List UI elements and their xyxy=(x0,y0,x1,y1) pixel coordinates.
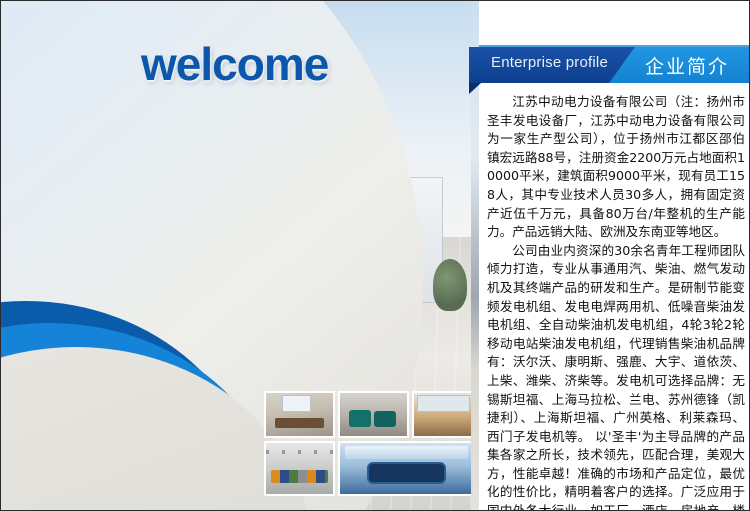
profile-body-copy: 江苏中动电力设备有限公司（注：扬州市圣丰发电设备厂，江苏中动电力设备有限公司为一… xyxy=(487,93,745,493)
factory-floor-photo: 生产车间 xyxy=(264,441,335,496)
banner-english-label: Enterprise profile xyxy=(491,54,608,71)
profile-paragraph-1: 江苏中动电力设备有限公司（注：扬州市圣丰发电设备厂，江苏中动电力设备有限公司为一… xyxy=(487,93,745,242)
tree-right xyxy=(433,259,467,311)
banner-chinese-label: 企业简介 xyxy=(645,52,729,79)
company-profile-page: 中动电力 江苏中动电力设备有限公司 Jiangsu Zhongdong Powe… xyxy=(0,0,750,511)
photo-collage: 办公室会议 发电机组 展厅 生产车间 会议室 xyxy=(264,391,469,499)
conference-room-photo: 会议室 xyxy=(338,441,475,496)
enterprise-profile-banner: Enterprise profile 企业简介 xyxy=(469,47,750,83)
showroom-photo: 展厅 xyxy=(412,391,475,438)
profile-paragraph-2: 公司由业内资深的30余名青年工程师团队倾力打造，专业从事通用汽、柴油、燃气发动机… xyxy=(487,242,745,511)
generator-units-photo: 发电机组 xyxy=(338,391,409,438)
office-meeting-photo: 办公室会议 xyxy=(264,391,335,438)
left-hero-panel: 中动电力 江苏中动电力设备有限公司 Jiangsu Zhongdong Powe… xyxy=(1,1,479,511)
welcome-heading: welcome xyxy=(141,37,328,91)
profile-text-panel: Enterprise profile 企业简介 江苏中动电力设备有限公司（注：扬… xyxy=(479,1,750,511)
